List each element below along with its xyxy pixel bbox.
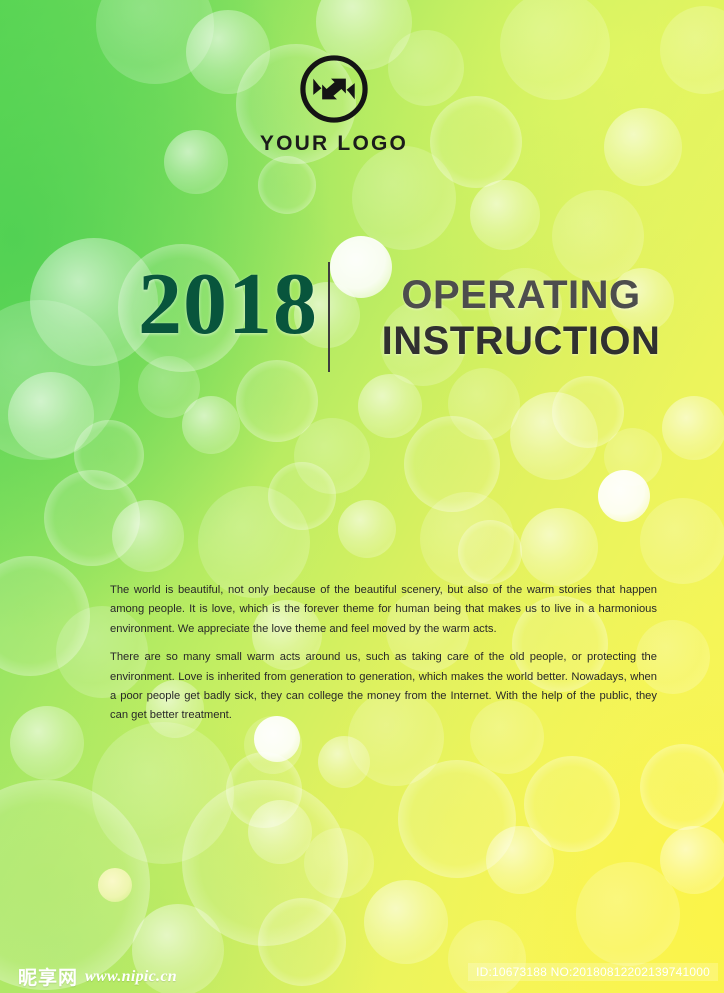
poster-canvas: YOUR LOGO 2018 OPERATING INSTRUCTION The…	[0, 0, 724, 993]
bokeh-circle	[92, 722, 234, 864]
bokeh-circle	[248, 800, 312, 864]
footer-brand[interactable]: 昵享网 www.nipic.cn	[18, 963, 177, 990]
bokeh-circle	[470, 180, 540, 250]
title-line-operating: OPERATING	[356, 272, 686, 318]
bokeh-circle	[448, 368, 520, 440]
body-copy: The world is beautiful, not only because…	[110, 581, 657, 726]
bokeh-circle	[398, 760, 516, 878]
logo-text: YOUR LOGO	[0, 132, 668, 156]
asset-id-badge: ID:10673188 NO:20180812202139741000	[468, 963, 718, 981]
bokeh-circle	[338, 500, 396, 558]
body-paragraph-2: There are so many small warm acts around…	[110, 648, 657, 726]
bokeh-circle	[352, 146, 456, 250]
bokeh-circle	[358, 374, 422, 438]
year-heading: 2018	[138, 254, 318, 355]
bokeh-circle	[226, 752, 302, 828]
bokeh-circle	[318, 736, 370, 788]
bokeh-circle	[662, 396, 724, 460]
bokeh-circle	[520, 508, 598, 586]
bokeh-circle-cream	[98, 868, 132, 902]
logo-block: YOUR LOGO	[0, 52, 724, 156]
body-paragraph-1: The world is beautiful, not only because…	[110, 581, 657, 639]
bokeh-circle	[258, 156, 316, 214]
z-arrow-circle-logo-icon	[297, 52, 371, 126]
title-divider	[328, 262, 330, 372]
bokeh-circle	[660, 826, 724, 894]
bokeh-circle	[44, 470, 140, 566]
bokeh-circle	[420, 492, 514, 586]
bokeh-circle	[294, 418, 370, 494]
bokeh-circle	[552, 376, 624, 448]
bokeh-circle	[458, 520, 522, 584]
title-block: 2018 OPERATING INSTRUCTION	[0, 258, 724, 378]
bokeh-circle	[364, 880, 448, 964]
bokeh-circle	[182, 780, 348, 946]
bokeh-circle	[268, 462, 336, 530]
brand-name-cn: 昵享网	[18, 963, 78, 990]
bokeh-circle	[10, 706, 84, 780]
bokeh-circle	[0, 556, 90, 676]
bokeh-circle	[524, 756, 620, 852]
bokeh-circle	[112, 500, 184, 572]
bokeh-circle	[8, 372, 94, 458]
brand-url[interactable]: www.nipic.cn	[85, 968, 177, 986]
title-line-instruction: INSTRUCTION	[356, 318, 686, 364]
bokeh-circle	[576, 862, 680, 966]
bokeh-circle	[74, 420, 144, 490]
bokeh-circle	[304, 828, 374, 898]
bokeh-circle	[604, 428, 662, 486]
page-title: OPERATING INSTRUCTION	[356, 272, 686, 364]
bokeh-circle	[404, 416, 500, 512]
bokeh-circle	[640, 498, 724, 584]
bokeh-circle	[486, 826, 554, 894]
bokeh-circle	[640, 744, 724, 830]
footer-bar: 昵享网 www.nipic.cn ID:10673188 NO:20180812…	[0, 955, 724, 993]
bokeh-circle	[510, 392, 598, 480]
bokeh-circle-bright	[598, 470, 650, 522]
bokeh-circle	[182, 396, 240, 454]
